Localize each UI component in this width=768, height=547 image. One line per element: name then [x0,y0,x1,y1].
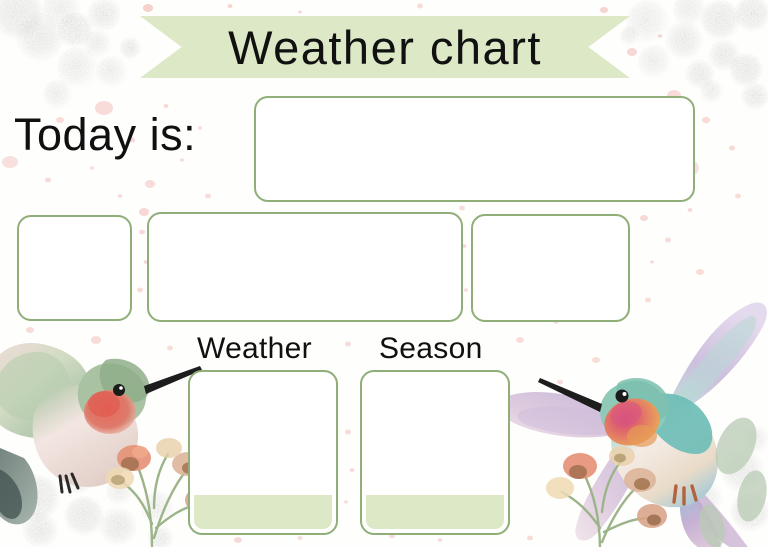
today-is-label: Today is: [14,112,196,157]
hummingbird-green-left [0,318,209,547]
watercolor-flowers-right [530,400,690,547]
glitter-cluster-bottom-left [0,444,175,547]
box-small-left[interactable] [17,215,132,321]
weather-field[interactable] [188,370,338,535]
season-caption: Season [379,334,483,364]
glitter-cluster-top-right [620,0,768,110]
glitter-cluster-top-left [0,0,141,110]
hummingbird-teal-right [500,300,768,547]
glitter-cluster-bottom-right [672,426,768,547]
weather-caption: Weather [197,334,312,364]
box-wide-center[interactable] [147,212,463,322]
today-is-field[interactable] [254,96,695,202]
season-field-strip [366,495,504,529]
weather-field-strip [194,495,332,529]
title-banner: Weather chart [140,16,630,78]
season-field[interactable] [360,370,510,535]
weather-chart-page: Weather chart Today is: Weather Season [0,0,768,547]
box-medium-right[interactable] [471,214,630,322]
page-title: Weather chart [228,24,542,71]
